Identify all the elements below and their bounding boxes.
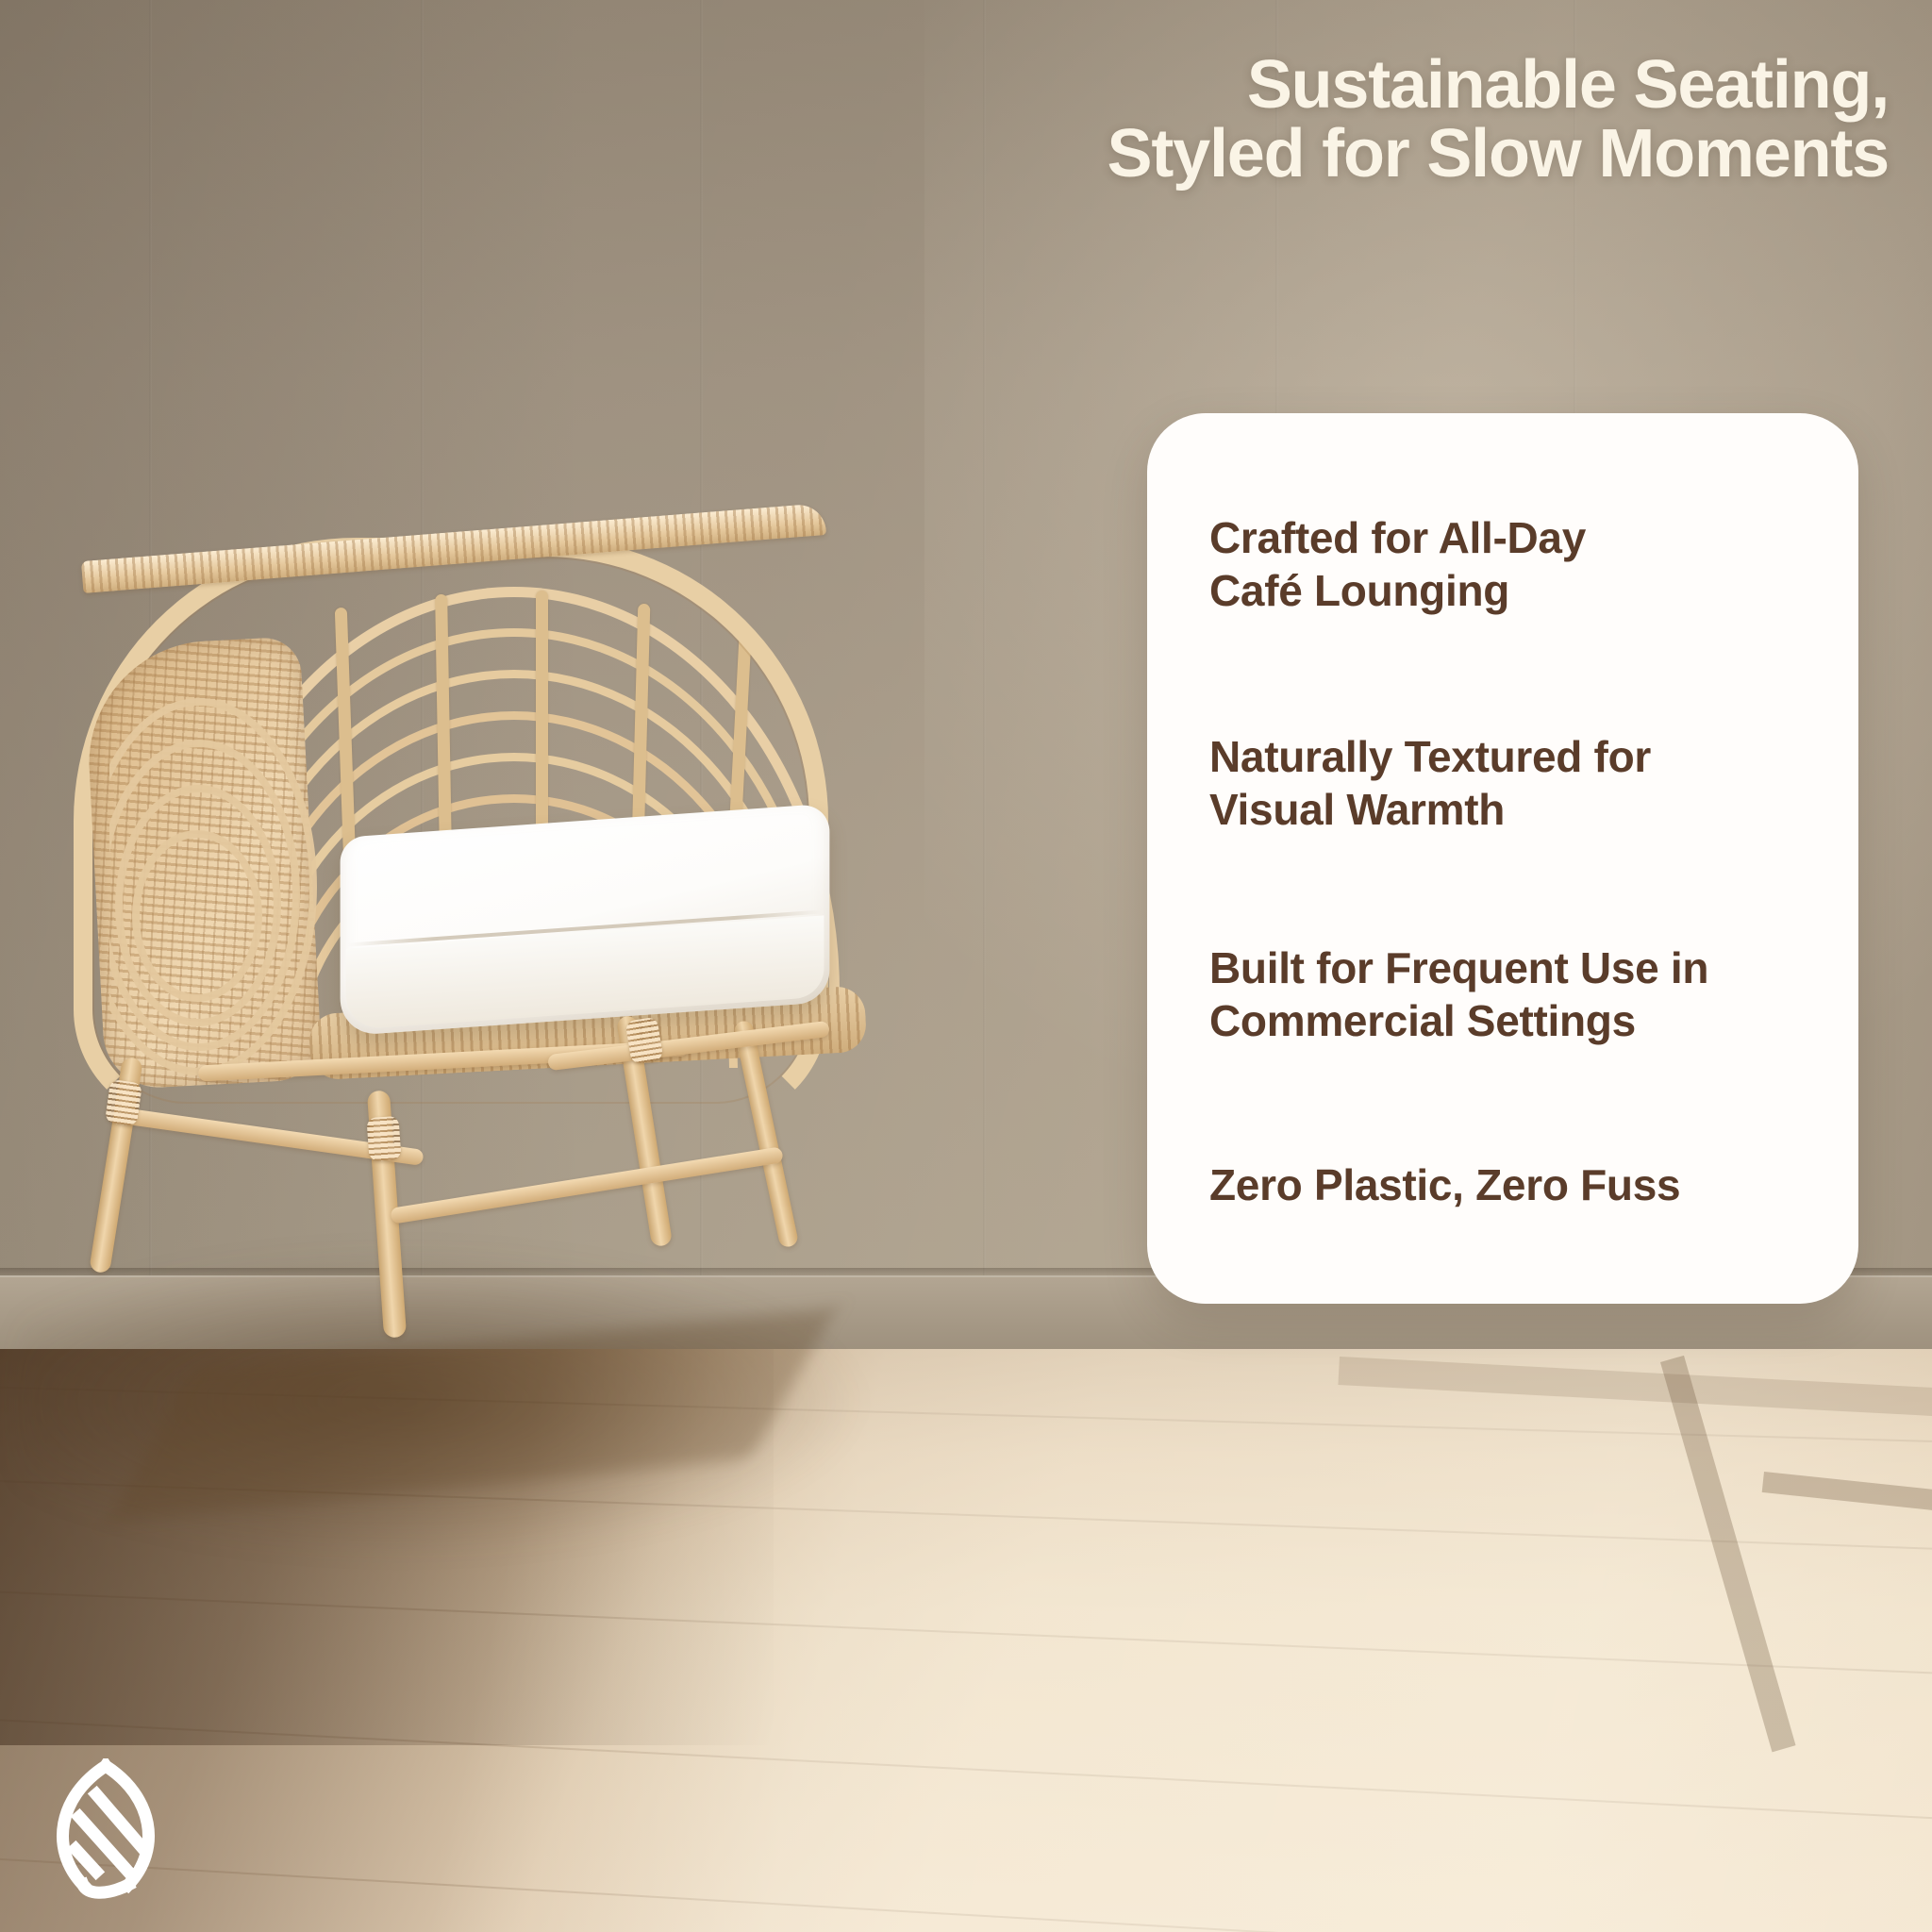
- floor-plank-line: [0, 1583, 1932, 1682]
- leaf-logo-icon: [42, 1758, 170, 1900]
- headline-line-1: Sustainable Seating,: [1247, 47, 1889, 123]
- chair-rattan-wrap-joint: [105, 1079, 142, 1126]
- floor-plank-line: [0, 1847, 1932, 1932]
- feature-card: Crafted for All-Day Café Lounging Natura…: [1147, 413, 1858, 1304]
- chair-arm-arc: [132, 830, 262, 1002]
- headline: Sustainable Seating, Styled for Slow Mom…: [775, 51, 1889, 190]
- feature-1-line-2: Café Lounging: [1209, 564, 1813, 617]
- feature-2-line-2: Visual Warmth: [1209, 783, 1832, 836]
- rattan-lounge-chair: [57, 528, 924, 1481]
- seat-cushion: [341, 804, 830, 1037]
- marketing-graphic: Sustainable Seating, Styled for Slow Mom…: [0, 0, 1932, 1932]
- feature-item-1: Crafted for All-Day Café Lounging: [1209, 511, 1813, 617]
- feature-2-line-1: Naturally Textured for: [1209, 730, 1832, 783]
- headline-line-2: Styled for Slow Moments: [775, 120, 1889, 189]
- chair-rattan-wrap-joint: [366, 1116, 401, 1161]
- chair-arm-arc-group: [109, 698, 336, 1094]
- feature-4-line-1: Zero Plastic, Zero Fuss: [1209, 1158, 1832, 1211]
- feature-item-3: Built for Frequent Use in Commercial Set…: [1209, 941, 1851, 1047]
- feature-3-line-1: Built for Frequent Use in: [1209, 941, 1851, 994]
- wall-panel-seam: [983, 0, 986, 1351]
- feature-3-line-2: Commercial Settings: [1209, 994, 1851, 1047]
- chair-stretcher-lower-right: [390, 1146, 783, 1224]
- feature-item-2: Naturally Textured for Visual Warmth: [1209, 730, 1832, 836]
- chair-rattan-wrap-joint: [625, 1017, 664, 1065]
- feature-1-line-1: Crafted for All-Day: [1209, 511, 1813, 564]
- leaf-logo: [42, 1758, 170, 1900]
- floor-plank-line: [0, 1709, 1932, 1828]
- feature-item-4: Zero Plastic, Zero Fuss: [1209, 1158, 1832, 1211]
